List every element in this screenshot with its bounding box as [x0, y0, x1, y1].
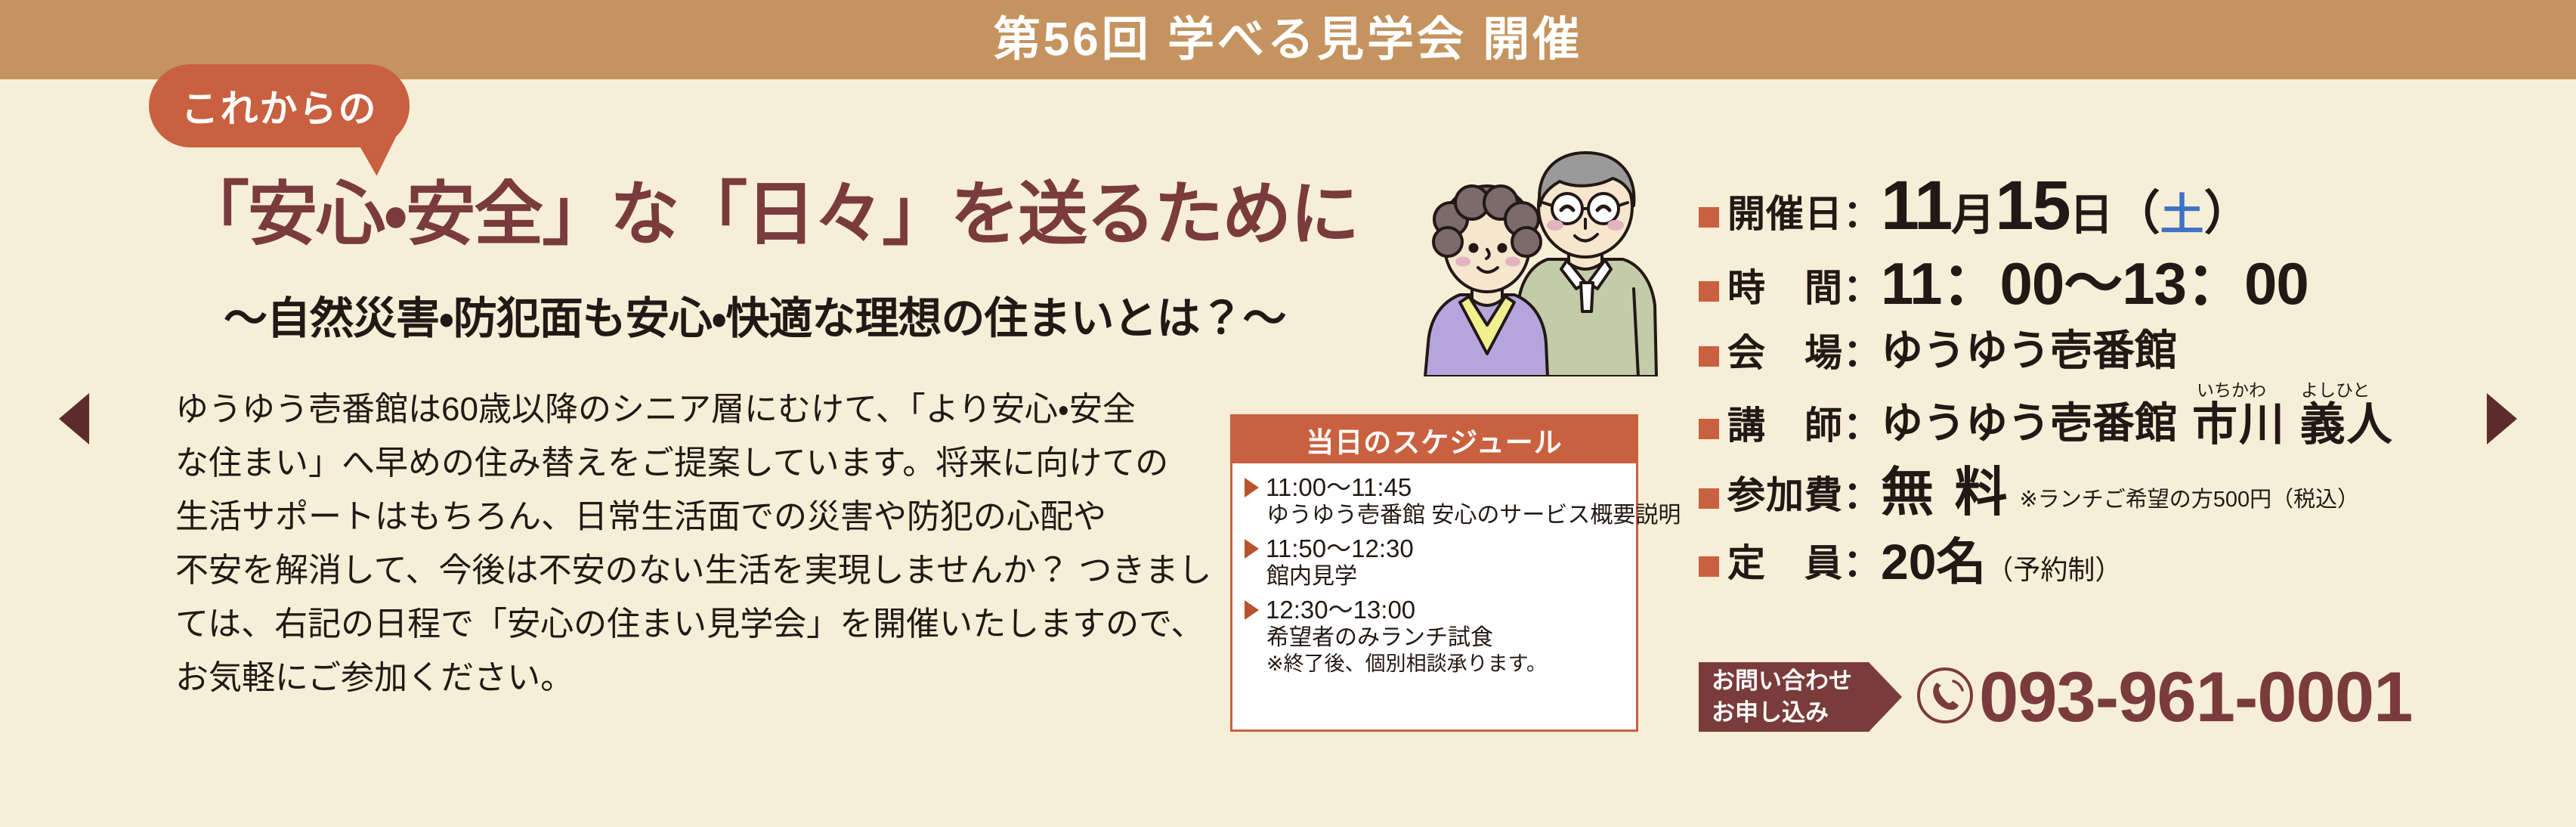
schedule-header: 当日のスケジュール [1232, 417, 1636, 463]
body-line: な住まい」へ早めの住み替えをご提案しています。将来に向けての [175, 447, 1203, 480]
detail-label-time: 時 間 [1727, 269, 1843, 307]
detail-colon: ： [1843, 195, 1881, 233]
triangle-bullet-icon [1245, 478, 1259, 497]
detail-date-weekday: 土 [2160, 194, 2204, 237]
schedule-item-time-row: 11:50〜12:30 [1245, 534, 1636, 563]
schedule-item-time: 11:50〜12:30 [1266, 534, 1414, 563]
triangle-bullet-icon [1245, 539, 1259, 559]
detail-date-paren-close: ） [2204, 190, 2251, 237]
speech-bubble: これからの [149, 64, 410, 147]
contact-block: お問い合わせ お申し込み 093-961-0001 [1699, 661, 2412, 733]
schedule-box: 当日のスケジュール 11:00〜11:45 ゆうゆう壱番館 安心のサービス概要説… [1230, 414, 1638, 732]
contact-tag: お問い合わせ お申し込み [1699, 662, 1869, 732]
detail-value-lecturer-org: ゆうゆう壱番館 [1881, 402, 2177, 444]
body-line: お気軽にご参加ください。 [175, 661, 1203, 695]
lecturer-furigana-givenname: よしひと [2301, 382, 2370, 399]
detail-colon: ： [1843, 407, 1881, 444]
detail-row-date: 開催日 ： 11 月 15 日 （ 土 ） [1699, 165, 2537, 237]
detail-row-venue: 会 場 ： ゆうゆう壱番館 [1699, 319, 2537, 376]
contact-tag-line-2: お申し込み [1712, 697, 1869, 729]
detail-value-fee: 無 料 [1881, 466, 2010, 519]
schedule-item-time: 12:30〜13:00 [1266, 596, 1415, 624]
detail-date-month-number: 11 [1881, 175, 1951, 237]
detail-colon: ： [1843, 269, 1881, 307]
detail-label-fee: 参加費 [1727, 476, 1843, 514]
detail-note-fee: ※ランチご希望の方500円（税込） [2019, 489, 2359, 511]
square-bullet-icon [1699, 207, 1719, 228]
detail-label-date: 開催日 [1727, 195, 1843, 233]
body-line: 不安を解消して、今後は不安のない生活を実現しませんか？ つきまし [175, 554, 1203, 587]
contact-tag-line-1: お問い合わせ [1712, 665, 1869, 697]
schedule-item-desc: 希望者のみランチ試食 [1245, 624, 1636, 652]
event-announcement-banner: 第56回 学べる見学会 開催 これからの 「安心・安全」な「日々」を送るために … [0, 0, 2576, 827]
detail-date-paren-open: （ [2114, 190, 2160, 237]
telephone-handset-icon [1916, 666, 1975, 729]
schedule-list: 11:00〜11:45 ゆうゆう壱番館 安心のサービス概要説明 11:50〜12… [1232, 463, 1636, 676]
schedule-item-time: 11:00〜11:45 [1266, 473, 1412, 502]
detail-date-day-kanji: 日 [2070, 194, 2114, 237]
detail-value-venue: ゆうゆう壱番館 [1881, 330, 2177, 372]
detail-note-capacity: （予約制） [1986, 556, 2122, 584]
detail-label-venue: 会 場 [1727, 334, 1843, 372]
square-bullet-icon [1699, 556, 1719, 577]
schedule-item-desc: ゆうゆう壱番館 安心のサービス概要説明 [1245, 502, 1636, 529]
schedule-item-note: ※終了後、個別相談承ります。 [1245, 652, 1636, 676]
lecturer-name: 市川 義人 [2192, 399, 2394, 450]
schedule-item-time-row: 11:00〜11:45 [1245, 473, 1636, 502]
triangle-bullet-icon [1245, 600, 1259, 620]
schedule-item-time-row: 12:30〜13:00 [1245, 596, 1636, 624]
header-title: 第56回 学べる見学会 開催 [994, 17, 1582, 63]
detail-row-capacity: 定 員 ： 20名 （予約制） [1699, 526, 2537, 587]
lecturer-furigana-surname: いちかわ [2197, 382, 2266, 399]
detail-label-capacity: 定 員 [1727, 544, 1843, 582]
speech-bubble-tail-icon [357, 135, 402, 178]
detail-colon: ： [1843, 476, 1881, 514]
detail-date-month-kanji: 月 [1951, 194, 1995, 237]
carousel-prev-arrow-icon[interactable] [59, 393, 89, 444]
detail-colon: ： [1843, 544, 1881, 582]
schedule-item: 12:30〜13:00 希望者のみランチ試食 ※終了後、個別相談承ります。 [1245, 596, 1636, 676]
elderly-couple-illustration [1407, 127, 1664, 376]
square-bullet-icon [1699, 281, 1719, 302]
detail-row-fee: 参加費 ： 無 料 ※ランチご希望の方500円（税込） [1699, 457, 2537, 519]
schedule-item: 11:50〜12:30 館内見学 [1245, 534, 1636, 590]
speech-bubble-text: これからの [181, 79, 378, 133]
square-bullet-icon [1699, 488, 1719, 509]
event-details-panel: 開催日 ： 11 月 15 日 （ 土 ） 時 間 ： 11：00〜13：00 … [1699, 165, 2537, 594]
body-line: ては、右記の日程で「安心の住まい見学会」を開催いたしますので、 [175, 608, 1203, 641]
detail-date-day-number: 15 [1995, 175, 2069, 237]
schedule-heading: 当日のスケジュール [1306, 420, 1562, 460]
schedule-item: 11:00〜11:45 ゆうゆう壱番館 安心のサービス概要説明 [1245, 473, 1636, 529]
square-bullet-icon [1699, 419, 1719, 439]
detail-row-lecturer: 講 師 ： ゆうゆう壱番館 いちかわ よしひと 市川 義人 [1699, 384, 2537, 449]
hero-subtitle: 〜自然災害・防犯面も安心・快適な理想の住まいとは？〜 [224, 296, 1285, 342]
body-paragraph: ゆうゆう壱番館は60歳以降のシニア層にむけて、「より安心・安全 な住まい」へ早め… [175, 393, 1203, 715]
hero-headline: 「安心・安全」な「日々」を送るために [180, 178, 1358, 252]
body-line: 生活サポートはもちろん、日常生活面での災害や防犯の心配や [175, 500, 1203, 534]
header-band: 第56回 学べる見学会 開催 [0, 0, 2576, 79]
detail-label-lecturer: 講 師 [1727, 407, 1843, 444]
body-line: ゆうゆう壱番館は60歳以降のシニア層にむけて、「より安心・安全 [175, 393, 1203, 426]
lecturer-name-block: いちかわ よしひと 市川 義人 [2192, 382, 2394, 448]
square-bullet-icon [1699, 346, 1719, 367]
lecturer-furigana: いちかわ よしひと [2192, 382, 2394, 399]
schedule-item-desc: 館内見学 [1245, 563, 1636, 590]
detail-value-time: 11：00〜13：00 [1881, 256, 2309, 311]
detail-colon: ： [1843, 334, 1881, 372]
detail-value-capacity: 20名 [1881, 537, 1986, 587]
detail-row-time: 時 間 ： 11：00〜13：00 [1699, 245, 2537, 311]
contact-phone-number[interactable]: 093-961-0001 [1979, 661, 2412, 733]
